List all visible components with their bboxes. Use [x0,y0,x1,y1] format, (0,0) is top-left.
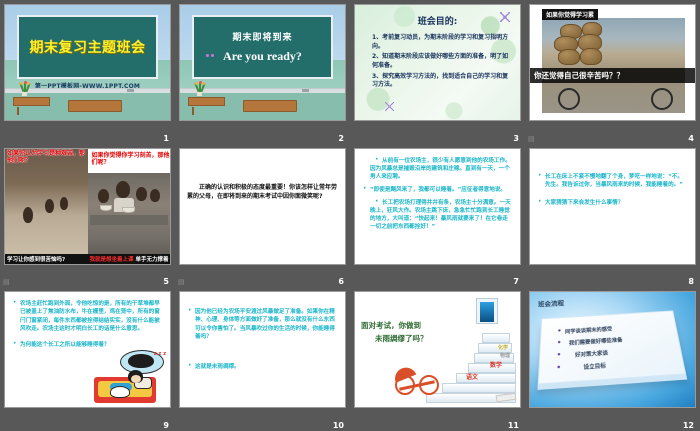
slide5-right-caption: 如果你觉得你学习刻苦，那他们呢？ [90,150,171,168]
bicycle-sacks-photo [542,18,685,113]
slide-badge-icon: ▤ [3,278,10,286]
slide-cell-3[interactable]: 班会目的: 1、考前复习动员，为期末阶段的学习和复习指明方向。 2、知道期末阶段… [350,0,525,144]
classroom-background: 期末即将到来 Are you ready? [180,5,345,120]
subject-label-physics: 物理 [500,352,510,359]
slide2-line1: 期末即将到来 [232,30,292,43]
slide11-text: 面对考试，你做到 未雨绸缪了吗？ [361,320,428,346]
list-item: 1、考前复习动员，为期末阶段的学习和复习指明方向。 [365,34,514,51]
slide-number-4: 4 [688,134,694,143]
slide-thumbnail-4[interactable]: 如果你觉得学习累 你还觉得自己很辛苦吗？？ [529,4,696,121]
slide5-right-bottom-white: 单手无力撑着 她在努力上课 [135,257,170,263]
slide-cell-6[interactable]: 正确的认识和积极的态度最重要！你该怎样让常年劳累的父母，在即将到来的期末考试中因… [175,144,350,288]
flower-vase-icon [195,83,204,96]
slide2-line2: Are you ready? [223,49,302,64]
bicycle-icon [391,363,445,395]
slide7-bullet-list: 从前有一位农场主，很少有人愿意到他的农场工作。因为风暴总是摧毁沿岸的建筑和庄稼。… [362,157,513,232]
slide10-bullet-list: 因为他已经为农场平安渡过风暴做足了准备。如果你在精神、心理、身体等方面做好了准备… [187,308,338,371]
slide9-bullet-list: 农场主赶忙跑到外面，令他吃惊的是，所有的干草堆都早已被盖上了焦油防水布，牛在栅里… [12,300,163,349]
slide-number-8: 8 [688,277,694,286]
slide-badge-icon: ▤ [528,135,535,143]
rail-knob [302,89,309,92]
slide12-agenda-list: 同学谈谈期末的感受 我们需要做好哪些准备 好对策大家谈 设立目标 [539,312,683,375]
list-item: 因为他已经为农场平安渡过风暴做足了准备。如果你在精神、心理、身体等方面做好了准备… [187,308,338,340]
slide11-line2: 未雨绸缪了吗？ [361,333,428,346]
two-photo-body: 如果你认为学习是种艰苦，那他们呢？ 学习让你感到很苦恼吗? 如果你觉得你学习刻苦… [5,149,170,264]
students-eating-photo [88,173,171,264]
wall-rail [180,88,345,93]
slide-number-5: 5 [163,277,169,286]
slide1-title: 期末复习主题班会 [29,37,145,57]
desk-left [188,97,224,106]
slide-thumbnail-1[interactable]: 期末复习主题班会 第一PPT模板网-WWW.1PPT.COM [4,4,171,121]
subject-label-math: 数学 [490,360,502,369]
slide8-bullet-list: 长工在床上不紧不慢地翻了个身，梦呓一样地说：“不。先生。我告诉过你，当暴风雨来的… [537,173,688,207]
subject-label-chinese: 语文 [466,372,478,381]
slide-number-10: 10 [333,421,344,430]
slide4-caption-top: 如果你觉得学习累 [542,9,598,20]
list-item: 农场主赶忙跑到外面，令他吃惊的是，所有的干草堆都早已被盖上了焦油防水布，牛在栅里… [12,300,163,332]
slide-cell-1[interactable]: 期末复习主题班会 第一PPT模板网-WWW.1PPT.COM 1 [0,0,175,144]
wall-rail [5,88,170,93]
paper-card: 同学谈谈期末的感受 我们需要做好哪些准备 好对策大家谈 设立目标 [538,311,686,385]
door-icon [476,298,498,324]
text-slide-body: 因为他已经为农场平安渡过风暴做足了准备。如果你在精神、心理、身体等方面做好了准备… [180,292,345,407]
slide5-left-caption: 如果你认为学习是种艰苦，那他们呢？ [7,150,86,164]
slide-number-11: 11 [508,421,519,430]
slide11-line1: 面对考试，你做到 [361,321,421,330]
sleeping-child-cartoon-icon: z z z [88,350,166,405]
slide-number-9: 9 [163,421,169,430]
slide3-title: 班会目的: [361,14,514,27]
list-item: “即使是飓风来了，我都可以睡着。”应征者得意地说。 [362,186,513,194]
slide5-right-bottom-red: 我就是想坐着上课 [90,257,134,263]
text-slide-body: 农场主赶忙跑到外面，令他吃惊的是，所有的干草堆都早已被盖上了焦油防水布，牛在栅里… [5,292,170,407]
slide-thumbnail-12[interactable]: 班会流程 同学谈谈期末的感受 我们需要做好哪些准备 好对策大家谈 设立目标 [529,291,696,408]
slide12-title: 班会流程 [538,298,564,309]
village-photo: 如果你认为学习是种艰苦，那他们呢？ 学习让你感到很苦恼吗? [5,149,88,264]
slide-thumbnail-6[interactable]: 正确的认识和积极的态度最重要！你该怎样让常年劳累的父母，在即将到来的期末考试中因… [179,148,346,265]
slide-badge-icon: ▤ [178,278,185,286]
list-item: 大家猜猜下来会发生什么事情？ [537,199,688,207]
photo-slide-body: 如果你觉得学习累 你还觉得自己很辛苦吗？？ [530,5,695,120]
chalkboard: 期末即将到来 Are you ready? [192,15,334,78]
decorative-dots [206,42,216,61]
slide-cell-8[interactable]: 长工在床上不紧不慢地翻了个身，梦呓一样地说：“不。先生。我告诉过你，当暴风雨来的… [525,144,700,288]
list-item: 为何能这个长工之所以能够睡得着？ [12,341,163,349]
slide6-body: 正确的认识和积极的态度最重要！你该怎样让常年劳累的父母，在即将到来的期末考试中因… [187,183,338,201]
list-item: 长工在床上不紧不慢地翻了个身，梦呓一样地说：“不。先生。我告诉过你，当暴风雨来的… [537,173,688,189]
slide-thumbnail-5[interactable]: 如果你认为学习是种艰苦，那他们呢？ 学习让你感到很苦恼吗? 如果你觉得你学习刻苦… [4,148,171,265]
list-item: 这就是未雨绸缪。 [187,363,338,371]
list-item: 长工把农场打理得井井有条，农场主十分满意。一天晚上，狂风大作。农场主跳下床，急急… [362,199,513,231]
slide-thumbnail-grid: 期末复习主题班会 第一PPT模板网-WWW.1PPT.COM 1 [0,0,700,431]
text-slide-body: 长工在床上不紧不慢地翻了个身，梦呓一样地说：“不。先生。我告诉过你，当暴风雨来的… [530,149,695,264]
subject-label-chemistry: 化学 [498,344,508,351]
chalkboard: 期末复习主题班会 [17,15,159,78]
list-item: 2、知道期末阶段应该做好哪些方面的准备，明了如何准备。 [365,53,514,70]
slide-cell-12[interactable]: 班会流程 同学谈谈期末的感受 我们需要做好哪些准备 好对策大家谈 设立目标 12 [525,287,700,431]
flower-vase-icon [20,83,29,96]
text-slide-body: 正确的认识和积极的态度最重要！你该怎样让常年劳累的父母，在即将到来的期末考试中因… [180,149,345,264]
slide-thumbnail-11[interactable]: 化学 物理 数学 语文 面对考试，你做到 未雨绸缪了吗？ [354,291,521,408]
slide-cell-11[interactable]: 化学 物理 数学 语文 面对考试，你做到 未雨绸缪了吗？ 11 [350,287,525,431]
slide-thumbnail-10[interactable]: 因为他已经为农场平安渡过风暴做足了准备。如果你在精神、心理、身体等方面做好了准备… [179,291,346,408]
slide-cell-7[interactable]: 从前有一位农场主，很少有人愿意到他的农场工作。因为风暴总是摧毁沿岸的建筑和庄稼。… [350,144,525,288]
list-item: 3、探究高效学习方法的，找到适合自己的学习和复习方法。 [365,73,514,90]
slide-thumbnail-2[interactable]: 期末即将到来 Are you ready? [179,4,346,121]
classroom-background: 期末复习主题班会 第一PPT模板网-WWW.1PPT.COM [5,5,170,120]
slide-cell-5[interactable]: 如果你认为学习是种艰苦，那他们呢？ 学习让你感到很苦恼吗? 如果你觉得你学习刻苦… [0,144,175,288]
slide-cell-2[interactable]: 期末即将到来 Are you ready? 2 [175,0,350,144]
slide5-right-bottom-caption: 我就是想坐着上课 单手无力撑着 她在努力上课 [88,254,171,264]
slide-number-2: 2 [338,134,344,143]
blue-gradient-background: 班会流程 同学谈谈期末的感受 我们需要做好哪些准备 好对策大家谈 设立目标 [530,292,695,407]
slide-cell-4[interactable]: 如果你觉得学习累 你还觉得自己很辛苦吗？？ ▤ 4 [525,0,700,144]
list-item: 从前有一位农场主，很少有人愿意到他的农场工作。因为风暴总是摧毁沿岸的建筑和庄稼。… [362,157,513,181]
slide3-objective-list: 1、考前复习动员，为期末阶段的学习和复习指明方向。 2、知道期末阶段应该做好哪些… [361,34,514,90]
text-slide-body: 从前有一位农场主，很少有人愿意到他的农场工作。因为风暴总是摧毁沿岸的建筑和庄稼。… [355,149,520,264]
floral-background: 班会目的: 1、考前复习动员，为期末阶段的学习和复习指明方向。 2、知道期末阶段… [355,5,520,120]
slide-cell-9[interactable]: 农场主赶忙跑到外面，令他吃惊的是，所有的干草堆都早已被盖上了焦油防水布，牛在栅里… [0,287,175,431]
slide-thumbnail-7[interactable]: 从前有一位农场主，很少有人愿意到他的农场工作。因为风暴总是摧毁沿岸的建筑和庄稼。… [354,148,521,265]
classroom-photo-panel: 如果你觉得你学习刻苦，那他们呢？ 我就是想坐着上课 单手无力撑着 她在努力上课 [88,149,171,264]
slide-thumbnail-9[interactable]: 农场主赶忙跑到外面，令他吃惊的是，所有的干草堆都早已被盖上了焦油防水布，牛在栅里… [4,291,171,408]
list-item: 设立目标 [556,357,683,373]
desk-middle [243,100,297,112]
rail-knob [127,89,134,92]
slide-number-7: 7 [513,277,519,286]
slide4-caption-overlay: 你还觉得自己很辛苦吗？？ [530,68,695,83]
desk-middle [68,100,122,112]
slide-number-12: 12 [683,421,694,430]
desk-left [13,97,49,106]
stairs-slide-body: 化学 物理 数学 语文 面对考试，你做到 未雨绸缪了吗？ [355,292,520,407]
slide-number-6: 6 [338,277,344,286]
slide-number-1: 1 [163,134,169,143]
slide-number-3: 3 [513,134,519,143]
slide5-left-bottom-caption: 学习让你感到很苦恼吗? [5,254,88,264]
slide-thumbnail-8[interactable]: 长工在床上不紧不慢地翻了个身，梦呓一样地说：“不。先生。我告诉过你，当暴风雨来的… [529,148,696,265]
slide-thumbnail-3[interactable]: 班会目的: 1、考前复习动员，为期末阶段的学习和复习指明方向。 2、知道期末阶段… [354,4,521,121]
slide-cell-10[interactable]: 因为他已经为农场平安渡过风暴做足了准备。如果你在精神、心理、身体等方面做好了准备… [175,287,350,431]
